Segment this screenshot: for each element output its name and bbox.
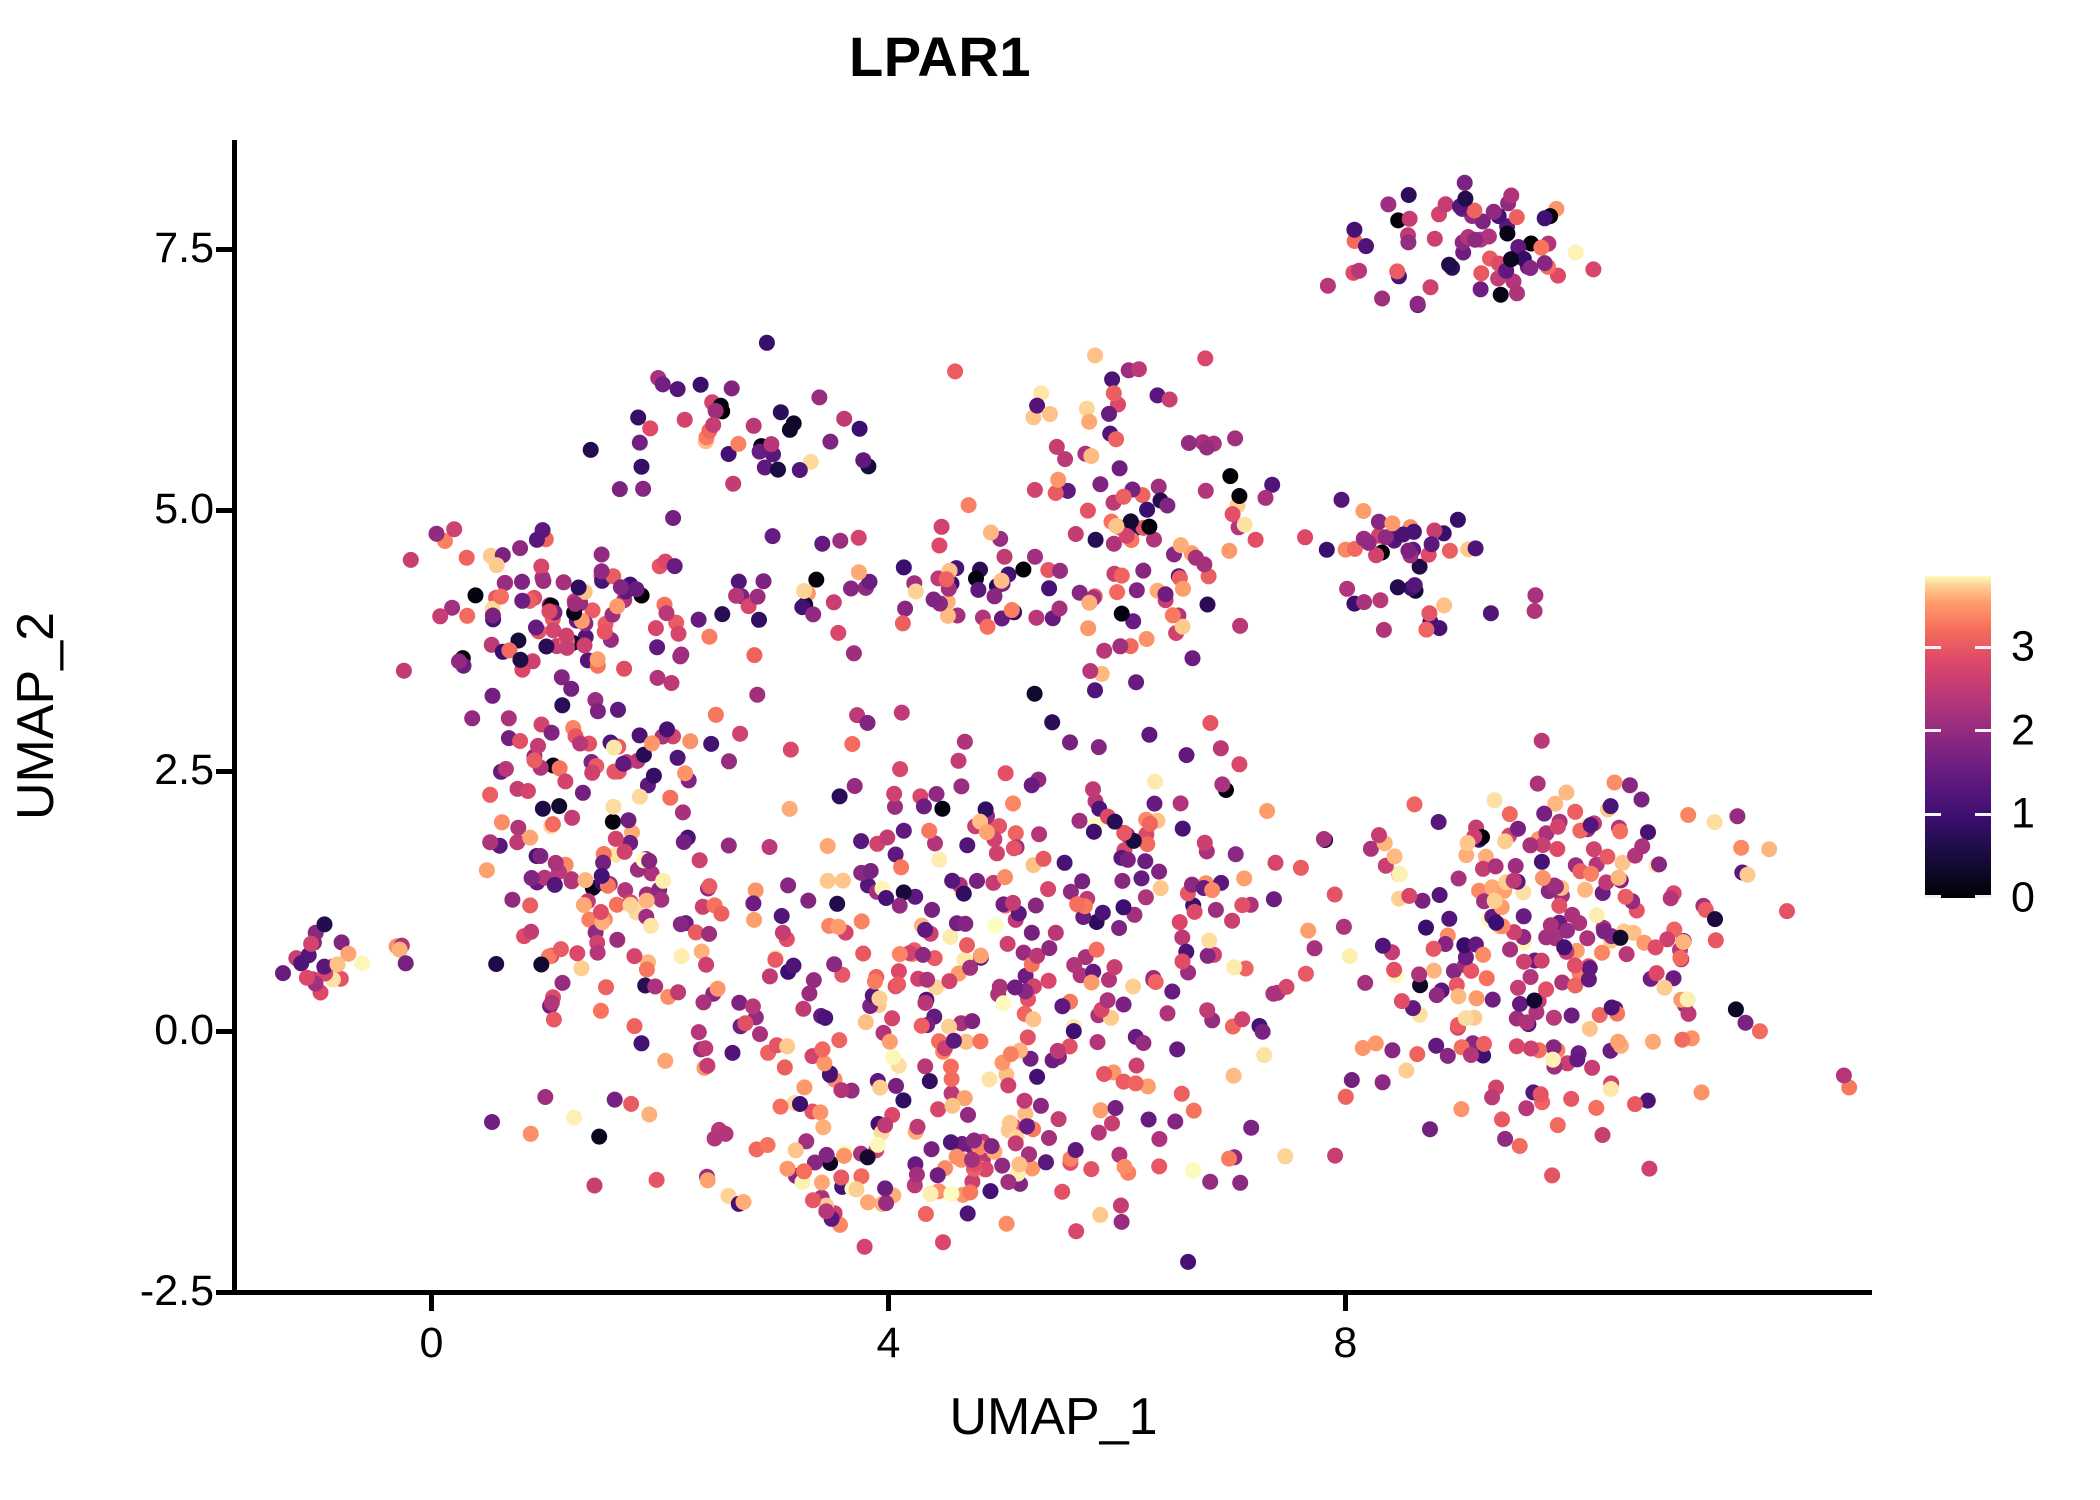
scatter-points-layer xyxy=(235,140,1872,1292)
scatter-point xyxy=(523,1126,539,1142)
scatter-point xyxy=(1484,1089,1500,1105)
scatter-point xyxy=(931,538,947,554)
scatter-point xyxy=(736,1194,752,1210)
scatter-point xyxy=(822,434,838,450)
scatter-point xyxy=(621,812,637,828)
scatter-point xyxy=(926,592,942,608)
scatter-point xyxy=(317,916,333,932)
scatter-point xyxy=(1028,610,1044,626)
scatter-point xyxy=(643,918,659,934)
scatter-point xyxy=(1375,938,1391,954)
scatter-point xyxy=(1000,1077,1016,1093)
scatter-point xyxy=(832,788,848,804)
scatter-point xyxy=(1579,930,1595,946)
scatter-point xyxy=(606,740,622,756)
scatter-point xyxy=(1431,814,1447,830)
scatter-point xyxy=(1007,979,1023,995)
scatter-point xyxy=(572,736,588,752)
scatter-point xyxy=(1048,925,1064,941)
scatter-point xyxy=(1522,260,1538,276)
scatter-point xyxy=(299,970,315,986)
scatter-point xyxy=(1068,1223,1084,1239)
scatter-point xyxy=(1173,537,1189,553)
scatter-point xyxy=(598,979,614,995)
scatter-point xyxy=(826,594,842,610)
scatter-point xyxy=(591,1129,607,1145)
scatter-point xyxy=(537,1089,553,1105)
scatter-point xyxy=(756,573,772,589)
scatter-point xyxy=(1086,824,1102,840)
scatter-point xyxy=(860,1194,876,1210)
scatter-point xyxy=(1092,1207,1108,1223)
scatter-point xyxy=(1583,817,1599,833)
scatter-point xyxy=(972,1033,988,1049)
scatter-point xyxy=(650,670,666,686)
scatter-point xyxy=(563,681,579,697)
scatter-point xyxy=(918,1206,934,1222)
scatter-point xyxy=(1041,973,1057,989)
scatter-point xyxy=(551,798,567,814)
scatter-point xyxy=(1424,536,1440,552)
scatter-point xyxy=(696,994,712,1010)
scatter-point xyxy=(1204,882,1220,898)
scatter-point xyxy=(1589,907,1605,923)
y-axis-tick-label: 0.0 xyxy=(154,1009,214,1052)
scatter-point xyxy=(746,418,762,434)
scatter-point xyxy=(1095,905,1111,921)
scatter-point xyxy=(1112,638,1128,654)
scatter-point xyxy=(646,768,662,784)
scatter-point xyxy=(1091,739,1107,755)
scatter-point xyxy=(1137,853,1153,869)
scatter-point xyxy=(1069,896,1085,912)
scatter-point xyxy=(1297,529,1313,545)
scatter-point xyxy=(1092,476,1108,492)
scatter-point xyxy=(956,886,972,902)
scatter-point xyxy=(529,532,545,548)
scatter-point xyxy=(713,906,729,922)
scatter-point xyxy=(1024,925,1040,941)
x-axis-title: UMAP_1 xyxy=(235,1386,1872,1448)
y-axis-title: UMAP_2 xyxy=(6,140,66,1292)
x-axis-line xyxy=(232,1290,1872,1295)
scatter-point xyxy=(398,955,414,971)
scatter-point xyxy=(879,830,895,846)
scatter-point xyxy=(763,436,779,452)
scatter-point xyxy=(943,1134,959,1150)
scatter-point xyxy=(1581,972,1597,988)
scatter-point xyxy=(1427,231,1443,247)
scatter-point xyxy=(884,1010,900,1026)
scatter-point xyxy=(1179,747,1195,763)
scatter-point xyxy=(924,902,940,918)
scatter-point xyxy=(759,335,775,351)
scatter-point xyxy=(1089,942,1105,958)
scatter-point xyxy=(872,1080,888,1096)
scatter-point xyxy=(816,1055,832,1071)
scatter-point xyxy=(855,946,871,962)
scatter-point xyxy=(1526,993,1542,1009)
scatter-point xyxy=(979,824,995,840)
scatter-point xyxy=(1503,251,1519,267)
scatter-point xyxy=(780,877,796,893)
scatter-point xyxy=(944,873,960,889)
scatter-point xyxy=(796,583,812,599)
scatter-point xyxy=(691,1024,707,1040)
scatter-point xyxy=(675,804,691,820)
scatter-point xyxy=(1027,482,1043,498)
scatter-point xyxy=(615,756,631,772)
scatter-point xyxy=(1506,873,1522,889)
scatter-point xyxy=(1265,986,1281,1002)
x-axis-tick-label: 4 xyxy=(876,1318,900,1368)
scatter-point xyxy=(1441,257,1457,273)
scatter-point xyxy=(732,726,748,742)
scatter-point xyxy=(488,956,504,972)
scatter-point xyxy=(818,1203,834,1219)
y-axis-tick xyxy=(216,1029,232,1034)
scatter-point xyxy=(1087,347,1103,363)
scatter-point xyxy=(1649,965,1665,981)
y-axis-tick xyxy=(216,1290,232,1295)
scatter-point xyxy=(1534,733,1550,749)
scatter-point xyxy=(538,639,554,655)
scatter-point xyxy=(1672,950,1688,966)
scatter-point xyxy=(1487,792,1503,808)
scatter-point xyxy=(1231,756,1247,772)
scatter-point xyxy=(1165,607,1181,623)
scatter-point xyxy=(946,1033,962,1049)
scatter-point xyxy=(994,1158,1010,1174)
scatter-point xyxy=(962,1184,978,1200)
scatter-point xyxy=(1214,776,1230,792)
scatter-point xyxy=(541,603,557,619)
scatter-point xyxy=(522,830,538,846)
scatter-point xyxy=(1509,1038,1525,1054)
scatter-point xyxy=(1300,923,1316,939)
scatter-point xyxy=(609,897,625,913)
scatter-point xyxy=(1111,920,1127,936)
scatter-point xyxy=(1355,503,1371,519)
scatter-point xyxy=(945,1098,961,1114)
scatter-point xyxy=(1172,914,1188,930)
scatter-point xyxy=(1028,898,1044,914)
scatter-point xyxy=(849,1181,865,1197)
scatter-point xyxy=(567,596,583,612)
scatter-point xyxy=(710,981,726,997)
scatter-point xyxy=(1104,371,1120,387)
scatter-point xyxy=(919,972,935,988)
scatter-point xyxy=(878,1195,894,1211)
scatter-point xyxy=(1197,835,1213,851)
scatter-point xyxy=(573,960,589,976)
scatter-point xyxy=(830,919,846,935)
scatter-point xyxy=(590,945,606,961)
scatter-point xyxy=(396,663,412,679)
y-axis-tick-label: 5.0 xyxy=(154,488,214,531)
scatter-point xyxy=(1509,285,1525,301)
scatter-point xyxy=(878,890,894,906)
scatter-point xyxy=(1358,238,1374,254)
scatter-point xyxy=(607,1092,623,1108)
scatter-point xyxy=(844,736,860,752)
scatter-point xyxy=(1221,1151,1237,1167)
scatter-point xyxy=(835,873,851,889)
scatter-point xyxy=(762,839,778,855)
scatter-point xyxy=(966,1133,982,1149)
scatter-point xyxy=(1516,954,1532,970)
scatter-point xyxy=(1174,1086,1190,1102)
feature-plot-figure: LPAR1 -2.50.02.55.07.5 048 UMAP_1 UMAP_2… xyxy=(0,0,2100,1500)
scatter-point xyxy=(1564,907,1580,923)
scatter-point xyxy=(1651,856,1667,872)
scatter-point xyxy=(1610,1034,1626,1050)
scatter-point xyxy=(1596,923,1612,939)
scatter-point xyxy=(670,984,686,1000)
scatter-point xyxy=(1599,849,1615,865)
scatter-point xyxy=(1426,941,1442,957)
scatter-point xyxy=(1645,1034,1661,1050)
legend-tick xyxy=(1925,646,1991,649)
scatter-point xyxy=(575,785,591,801)
scatter-point xyxy=(893,859,909,875)
scatter-point xyxy=(1502,942,1518,958)
scatter-point xyxy=(1549,841,1565,857)
scatter-point xyxy=(908,584,924,600)
scatter-point xyxy=(1266,891,1282,907)
scatter-point xyxy=(767,952,783,968)
scatter-point xyxy=(1104,1115,1120,1131)
scatter-point xyxy=(1473,265,1489,281)
scatter-point xyxy=(1142,816,1158,832)
scatter-point xyxy=(627,1018,643,1034)
scatter-point xyxy=(1084,975,1100,991)
scatter-point xyxy=(1201,933,1217,949)
y-axis-line xyxy=(232,140,237,1295)
scatter-point xyxy=(697,1040,713,1056)
scatter-point xyxy=(1387,849,1403,865)
scatter-point xyxy=(1339,581,1355,597)
scatter-point xyxy=(700,1172,716,1188)
scatter-point xyxy=(1256,1047,1272,1063)
scatter-point xyxy=(1138,889,1154,905)
scatter-point xyxy=(628,581,644,597)
scatter-point xyxy=(612,481,628,497)
scatter-point xyxy=(877,1117,893,1133)
scatter-point xyxy=(639,893,655,909)
scatter-point xyxy=(805,606,821,622)
scatter-point xyxy=(1221,543,1237,559)
scatter-point xyxy=(653,892,669,908)
scatter-point xyxy=(691,612,707,628)
scatter-point xyxy=(774,908,790,924)
scatter-point xyxy=(1147,796,1163,812)
scatter-point xyxy=(1008,825,1024,841)
scatter-point xyxy=(699,1058,715,1074)
scatter-point xyxy=(775,925,791,941)
scatter-point xyxy=(512,540,528,556)
scatter-point xyxy=(1386,962,1402,978)
scatter-point xyxy=(1000,936,1016,952)
scatter-point xyxy=(548,855,564,871)
scatter-point xyxy=(1440,1048,1456,1064)
scatter-point xyxy=(1355,1040,1371,1056)
scatter-point xyxy=(941,973,957,989)
scatter-point xyxy=(626,948,642,964)
scatter-point xyxy=(725,1045,741,1061)
scatter-point xyxy=(1160,1005,1176,1021)
scatter-point xyxy=(915,947,931,963)
scatter-point xyxy=(973,948,989,964)
scatter-point xyxy=(708,707,724,723)
scatter-point xyxy=(566,1110,582,1126)
scatter-point xyxy=(1488,858,1504,874)
scatter-point xyxy=(1148,974,1164,990)
scatter-point xyxy=(1135,563,1151,579)
scatter-point xyxy=(547,877,563,893)
scatter-point xyxy=(1083,1161,1099,1177)
scatter-point xyxy=(528,620,544,636)
scatter-point xyxy=(1451,871,1467,887)
scatter-point xyxy=(833,1170,849,1186)
scatter-point xyxy=(1502,806,1518,822)
scatter-point xyxy=(1164,984,1180,1000)
scatter-point xyxy=(1319,542,1335,558)
scatter-point xyxy=(1048,485,1064,501)
scatter-point xyxy=(1530,776,1546,792)
scatter-point xyxy=(1442,543,1458,559)
scatter-point xyxy=(783,742,799,758)
scatter-point xyxy=(577,637,593,653)
x-axis-tick xyxy=(886,1295,891,1311)
scatter-point xyxy=(922,1073,938,1089)
scatter-point xyxy=(671,626,687,642)
scatter-point xyxy=(1248,532,1264,548)
scatter-point xyxy=(1550,1117,1566,1133)
scatter-point xyxy=(1232,1175,1248,1191)
scatter-point xyxy=(1320,278,1336,294)
scatter-point xyxy=(1135,1035,1151,1051)
scatter-point xyxy=(1117,1159,1133,1175)
x-axis-tick xyxy=(1343,1295,1348,1311)
scatter-point xyxy=(403,552,419,568)
scatter-point xyxy=(994,573,1010,589)
scatter-point xyxy=(953,778,969,794)
scatter-point xyxy=(815,1119,831,1135)
y-axis-tick-label: 2.5 xyxy=(154,749,214,792)
scatter-point xyxy=(1185,650,1201,666)
scatter-point xyxy=(674,948,690,964)
scatter-point xyxy=(745,895,761,911)
scatter-point xyxy=(623,897,639,913)
scatter-point xyxy=(1418,622,1434,638)
scatter-point xyxy=(1116,489,1132,505)
scatter-point xyxy=(1411,966,1427,982)
scatter-point xyxy=(523,924,539,940)
scatter-point xyxy=(796,1079,812,1095)
scatter-point xyxy=(1432,887,1448,903)
scatter-point xyxy=(593,904,609,920)
scatter-point xyxy=(1087,682,1103,698)
scatter-point xyxy=(1081,414,1097,430)
scatter-point xyxy=(930,1101,946,1117)
scatter-point xyxy=(1200,597,1216,613)
scatter-point xyxy=(773,1099,789,1115)
scatter-point xyxy=(1740,867,1756,883)
scatter-point xyxy=(714,606,730,622)
scatter-point xyxy=(670,381,686,397)
scatter-point xyxy=(1042,406,1058,422)
scatter-point xyxy=(896,559,912,575)
scatter-point xyxy=(1114,568,1130,584)
y-axis-tick-label: 7.5 xyxy=(154,227,214,270)
scatter-point xyxy=(1516,908,1532,924)
scatter-point xyxy=(1106,385,1122,401)
scatter-point xyxy=(597,624,613,640)
scatter-point xyxy=(1469,990,1485,1006)
scatter-point xyxy=(1409,1046,1425,1062)
scatter-point xyxy=(792,1096,808,1112)
scatter-point xyxy=(1234,897,1250,913)
y-axis-tick-label: -2.5 xyxy=(140,1270,214,1313)
scatter-point xyxy=(815,1041,831,1057)
scatter-point xyxy=(1641,1161,1657,1177)
scatter-point xyxy=(522,897,538,913)
scatter-point xyxy=(895,1092,911,1108)
scatter-point xyxy=(1316,831,1332,847)
scatter-point xyxy=(867,974,883,990)
scatter-point xyxy=(1681,1006,1697,1022)
scatter-point xyxy=(655,376,671,392)
scatter-point xyxy=(1546,1010,1562,1026)
scatter-point xyxy=(836,411,852,427)
scatter-point xyxy=(544,995,560,1011)
scatter-point xyxy=(1485,992,1501,1008)
scatter-point xyxy=(1426,963,1442,979)
scatter-point xyxy=(489,557,505,573)
scatter-point xyxy=(846,645,862,661)
color-legend: 3210 xyxy=(1925,576,2075,901)
scatter-point xyxy=(1141,727,1157,743)
legend-tick xyxy=(1925,895,1991,898)
scatter-point xyxy=(1003,1046,1019,1062)
scatter-point xyxy=(872,991,888,1007)
scatter-point xyxy=(1024,777,1040,793)
scatter-point xyxy=(1181,435,1197,451)
scatter-point xyxy=(832,533,848,549)
scatter-point xyxy=(1255,1024,1271,1040)
scatter-point xyxy=(1594,945,1610,961)
scatter-point xyxy=(1733,840,1749,856)
scatter-point xyxy=(1648,939,1664,955)
scatter-point xyxy=(1005,796,1021,812)
scatter-point xyxy=(1356,594,1372,610)
scatter-point xyxy=(1259,803,1275,819)
scatter-point xyxy=(535,801,551,817)
scatter-point xyxy=(836,1148,852,1164)
scatter-point xyxy=(1674,1032,1690,1048)
scatter-point xyxy=(1000,1174,1016,1190)
scatter-point xyxy=(1134,870,1150,886)
scatter-point xyxy=(1374,291,1390,307)
scatter-point xyxy=(1394,993,1410,1009)
scatter-point xyxy=(1523,969,1539,985)
scatter-point xyxy=(1522,837,1538,853)
scatter-point xyxy=(921,823,937,839)
scatter-point xyxy=(1050,472,1066,488)
scatter-point xyxy=(1357,975,1373,991)
scatter-point xyxy=(1460,835,1476,851)
